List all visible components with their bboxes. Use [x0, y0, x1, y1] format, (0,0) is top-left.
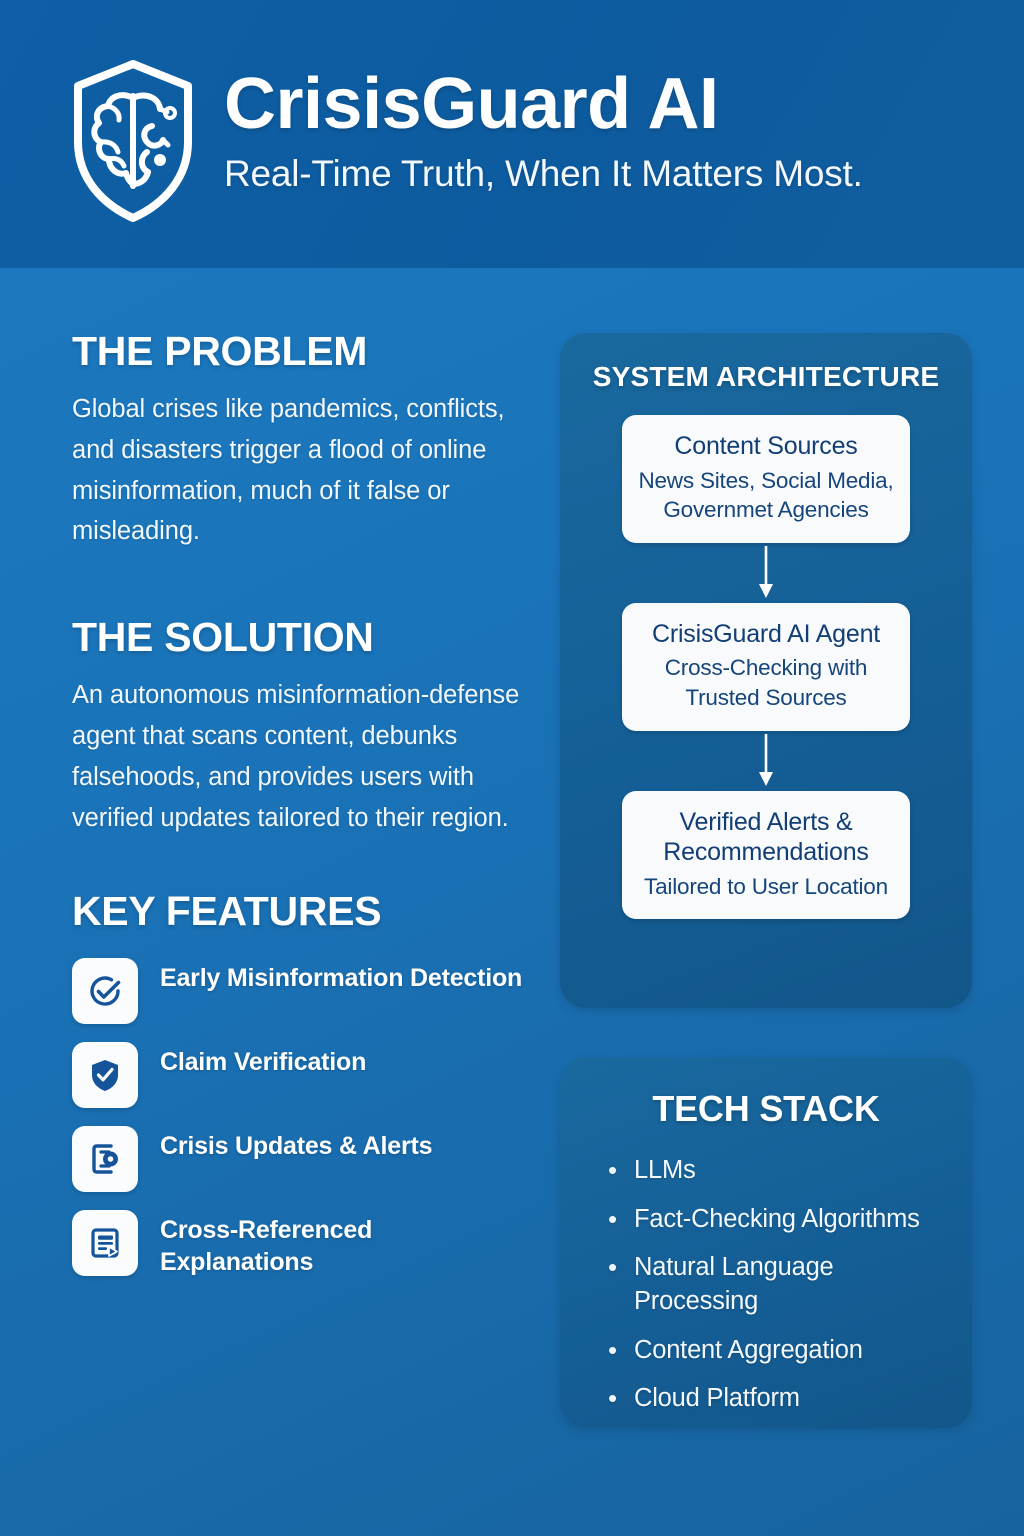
list-item-label: Early Misinformation Detection [160, 958, 522, 994]
solution-heading: THE SOLUTION [72, 616, 524, 659]
down-arrow-icon [622, 543, 910, 603]
brand-block: CrisisGuard AI Real-Time Truth, When It … [224, 52, 863, 195]
list-item: Natural Language Processing [608, 1251, 926, 1318]
down-arrow-icon [622, 731, 910, 791]
shield-brain-icon [64, 56, 202, 226]
solution-section: THE SOLUTION An autonomous misinformatio… [72, 616, 524, 838]
problem-body: Global crises like pandemics, conflicts,… [72, 389, 524, 552]
list-item: Cloud Platform [608, 1382, 926, 1416]
list-item: LLMs [608, 1154, 926, 1188]
page-title: CrisisGuard AI [224, 68, 863, 140]
page-header: CrisisGuard AI Real-Time Truth, When It … [0, 0, 1024, 268]
architecture-flow: Content Sources News Sites, Social Media… [560, 415, 972, 919]
problem-heading: THE PROBLEM [72, 330, 524, 373]
left-content-column: THE PROBLEM Global crises like pandemics… [72, 330, 524, 1296]
features-heading: KEY FEATURES [72, 890, 524, 933]
flow-step-ai-agent[interactable]: CrisisGuard AI Agent Cross-Checking with… [622, 603, 910, 731]
list-item-label: Cross-Referenced Explanations [160, 1210, 524, 1278]
tech-stack-list: LLMs Fact-Checking Algorithms Natural La… [560, 1154, 972, 1416]
list-item-label: Claim Verification [160, 1042, 366, 1078]
flow-step-subtitle: News Sites, Social Media, Governmet Agen… [636, 466, 896, 525]
list-item[interactable]: Crisis Updates & Alerts [72, 1126, 524, 1192]
list-item[interactable]: Claim Verification [72, 1042, 524, 1108]
system-architecture-panel: SYSTEM ARCHITECTURE Content Sources News… [560, 333, 972, 1008]
list-item-label: Crisis Updates & Alerts [160, 1126, 432, 1162]
flow-step-title: CrisisGuard AI Agent [636, 619, 896, 650]
list-item[interactable]: Early Misinformation Detection [72, 958, 524, 1024]
list-item[interactable]: Cross-Referenced Explanations [72, 1210, 524, 1278]
flow-step-title: Verified Alerts & Recommendations [636, 807, 896, 868]
flow-step-title: Content Sources [636, 431, 896, 462]
mobile-alert-icon [72, 1126, 138, 1192]
flow-step-subtitle: Cross-Checking with Trusted Sources [636, 653, 896, 712]
document-reference-icon [72, 1210, 138, 1276]
architecture-title: SYSTEM ARCHITECTURE [560, 333, 972, 393]
tech-stack-title: TECH STACK [560, 1058, 972, 1130]
flow-step-content-sources[interactable]: Content Sources News Sites, Social Media… [622, 415, 910, 543]
page-tagline: Real-Time Truth, When It Matters Most. [224, 154, 863, 195]
flow-step-subtitle: Tailored to User Location [636, 872, 896, 902]
shield-check-icon [72, 1042, 138, 1108]
features-section: KEY FEATURES Early Misinformation Detect… [72, 890, 524, 1277]
feature-list: Early Misinformation Detection Claim Ver… [72, 958, 524, 1278]
clock-check-icon [72, 958, 138, 1024]
solution-body: An autonomous misinformation-defense age… [72, 675, 524, 838]
problem-section: THE PROBLEM Global crises like pandemics… [72, 330, 524, 552]
list-item: Fact-Checking Algorithms [608, 1203, 926, 1237]
flow-step-verified-alerts[interactable]: Verified Alerts & Recommendations Tailor… [622, 791, 910, 920]
list-item: Content Aggregation [608, 1334, 926, 1368]
tech-stack-panel: TECH STACK LLMs Fact-Checking Algorithms… [560, 1058, 972, 1428]
